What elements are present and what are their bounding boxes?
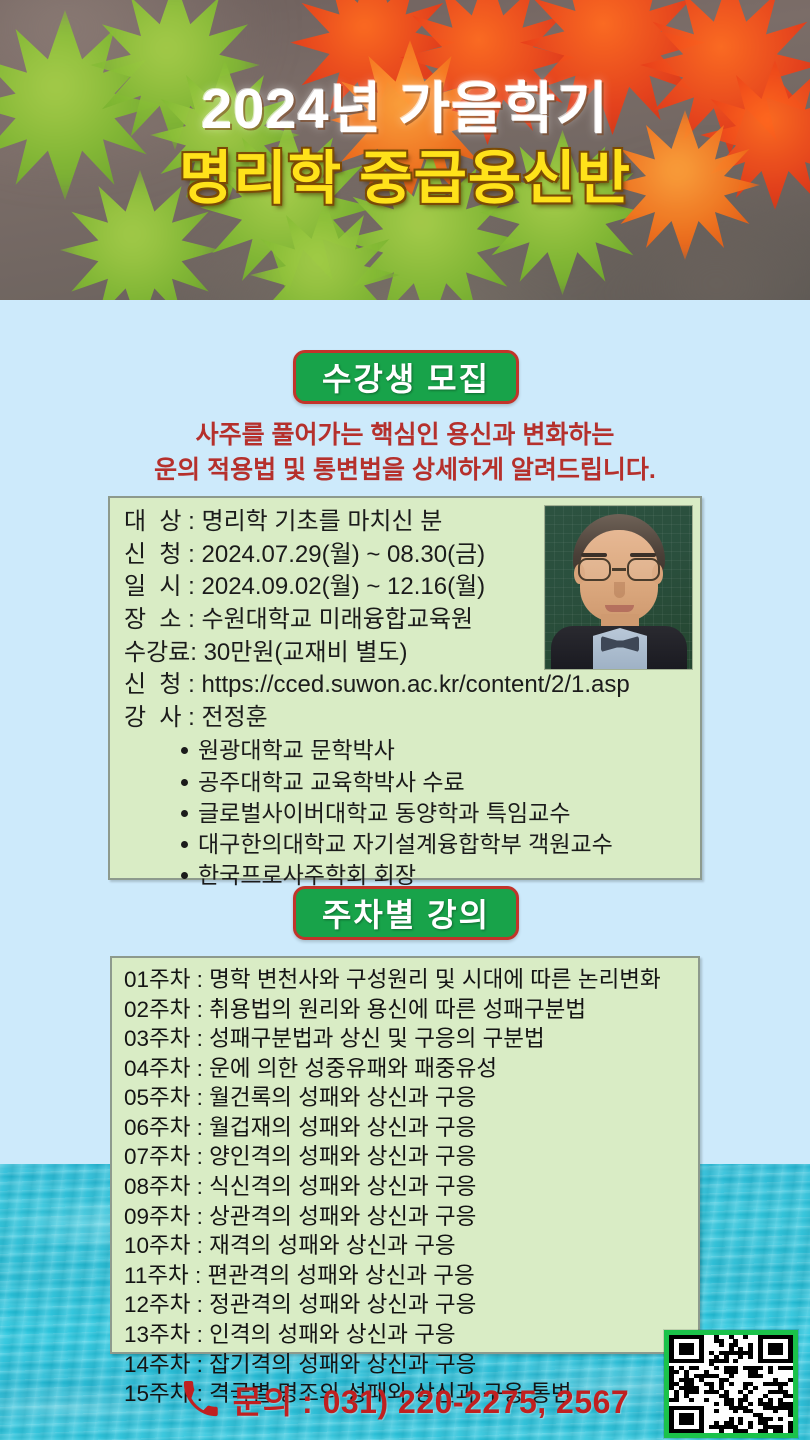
instructor-credential-list: 원광대학교 문학박사공주대학교 교육학박사 수료글로벌사이버대학교 동양학과 특… — [124, 735, 690, 891]
weekly-lecture-row: 08주차 : 식신격의 성패와 상신과 구응 — [124, 1172, 690, 1202]
qr-code-pattern — [669, 1335, 793, 1433]
qr-code[interactable] — [664, 1330, 798, 1438]
bullet-icon — [181, 810, 188, 817]
intro-line-2: 운의 적용법 및 통변법을 상세하게 알려드립니다. — [0, 453, 810, 488]
weekly-lecture-list: 01주차 : 명학 변천사와 구성원리 및 시대에 따른 논리변화02주차 : … — [124, 965, 690, 1409]
badge-weekly-lectures: 주차별 강의 — [293, 886, 519, 940]
credential-item: 글로벌사이버대학교 동양학과 특임교수 — [198, 798, 690, 829]
weekly-lecture-row: 04주차 : 운에 의한 성중유패와 패중유성 — [124, 1054, 690, 1084]
info-row: 일 시 : 2024.09.02(월) ~ 12.16(월) — [124, 571, 690, 604]
course-info-box: 대 상 : 명리학 기초를 마치신 분신 청 : 2024.07.29(월) ~… — [108, 496, 702, 880]
weekly-lecture-row: 05주차 : 월건록의 성패와 상신과 구응 — [124, 1083, 690, 1113]
credential-item: 원광대학교 문학박사 — [198, 735, 690, 766]
badge-recruit: 수강생 모집 — [293, 350, 519, 404]
header-banner: 2024년 가을학기 명리학 중급용신반 — [0, 0, 810, 300]
credential-item: 공주대학교 교육학박사 수료 — [198, 767, 690, 798]
intro-line-1: 사주를 풀어가는 핵심인 용신과 변화하는 — [0, 418, 810, 453]
weekly-lecture-row: 02주차 : 취용법의 원리와 용신에 따른 성패구분법 — [124, 995, 690, 1025]
intro-description: 사주를 풀어가는 핵심인 용신과 변화하는 운의 적용법 및 통변법을 상세하게… — [0, 418, 810, 487]
weekly-lecture-row: 07주차 : 양인격의 성패와 상신과 구응 — [124, 1142, 690, 1172]
weekly-lecture-row: 03주차 : 성패구분법과 상신 및 구응의 구분법 — [124, 1024, 690, 1054]
weekly-lecture-box: 01주차 : 명학 변천사와 구성원리 및 시대에 따른 논리변화02주차 : … — [110, 956, 700, 1354]
info-row: 신 청 : 2024.07.29(월) ~ 08.30(금) — [124, 539, 690, 572]
weekly-lecture-row: 11주차 : 편관격의 성패와 상신과 구응 — [124, 1261, 690, 1291]
poster-title-year: 2024년 가을학기 — [0, 78, 810, 141]
telephone-handset-icon — [181, 1381, 219, 1419]
weekly-lecture-row: 12주차 : 정관격의 성패와 상신과 구응 — [124, 1290, 690, 1320]
weekly-lecture-row: 13주차 : 인격의 성패와 상신과 구응 — [124, 1320, 690, 1350]
bullet-icon — [181, 841, 188, 848]
bullet-icon — [181, 747, 188, 754]
info-row: 신 청 : https://cced.suwon.ac.kr/content/2… — [124, 669, 690, 702]
weekly-lecture-row: 01주차 : 명학 변천사와 구성원리 및 시대에 따른 논리변화 — [124, 965, 690, 995]
course-info-lines: 대 상 : 명리학 기초를 마치신 분신 청 : 2024.07.29(월) ~… — [124, 506, 690, 892]
header-title-group: 2024년 가을학기 명리학 중급용신반 — [0, 78, 810, 212]
poster-root: 2024년 가을학기 명리학 중급용신반 수강생 모집 사주를 풀어가는 핵심인… — [0, 0, 810, 1440]
info-row: 수강료: 30만원(교재비 별도) — [124, 637, 690, 670]
weekly-lecture-row: 10주차 : 재격의 성패와 상신과 구응 — [124, 1231, 690, 1261]
contact-phone-text: 문의 : 031) 220-2275, 2567 — [233, 1377, 629, 1423]
bullet-icon — [181, 779, 188, 786]
credential-item: 대구한의대학교 자기설계융합학부 객원교수 — [198, 829, 690, 860]
info-row: 장 소 : 수원대학교 미래융합교육원 — [124, 604, 690, 637]
bullet-icon — [181, 872, 188, 879]
weekly-lecture-row: 09주차 : 상관격의 성패와 상신과 구응 — [124, 1202, 690, 1232]
info-row: 강 사 : 전정훈 — [124, 702, 690, 735]
poster-title-course: 명리학 중급용신반 — [0, 147, 810, 212]
info-row: 대 상 : 명리학 기초를 마치신 분 — [124, 506, 690, 539]
weekly-lecture-row: 06주차 : 월겁재의 성패와 상신과 구응 — [124, 1113, 690, 1143]
